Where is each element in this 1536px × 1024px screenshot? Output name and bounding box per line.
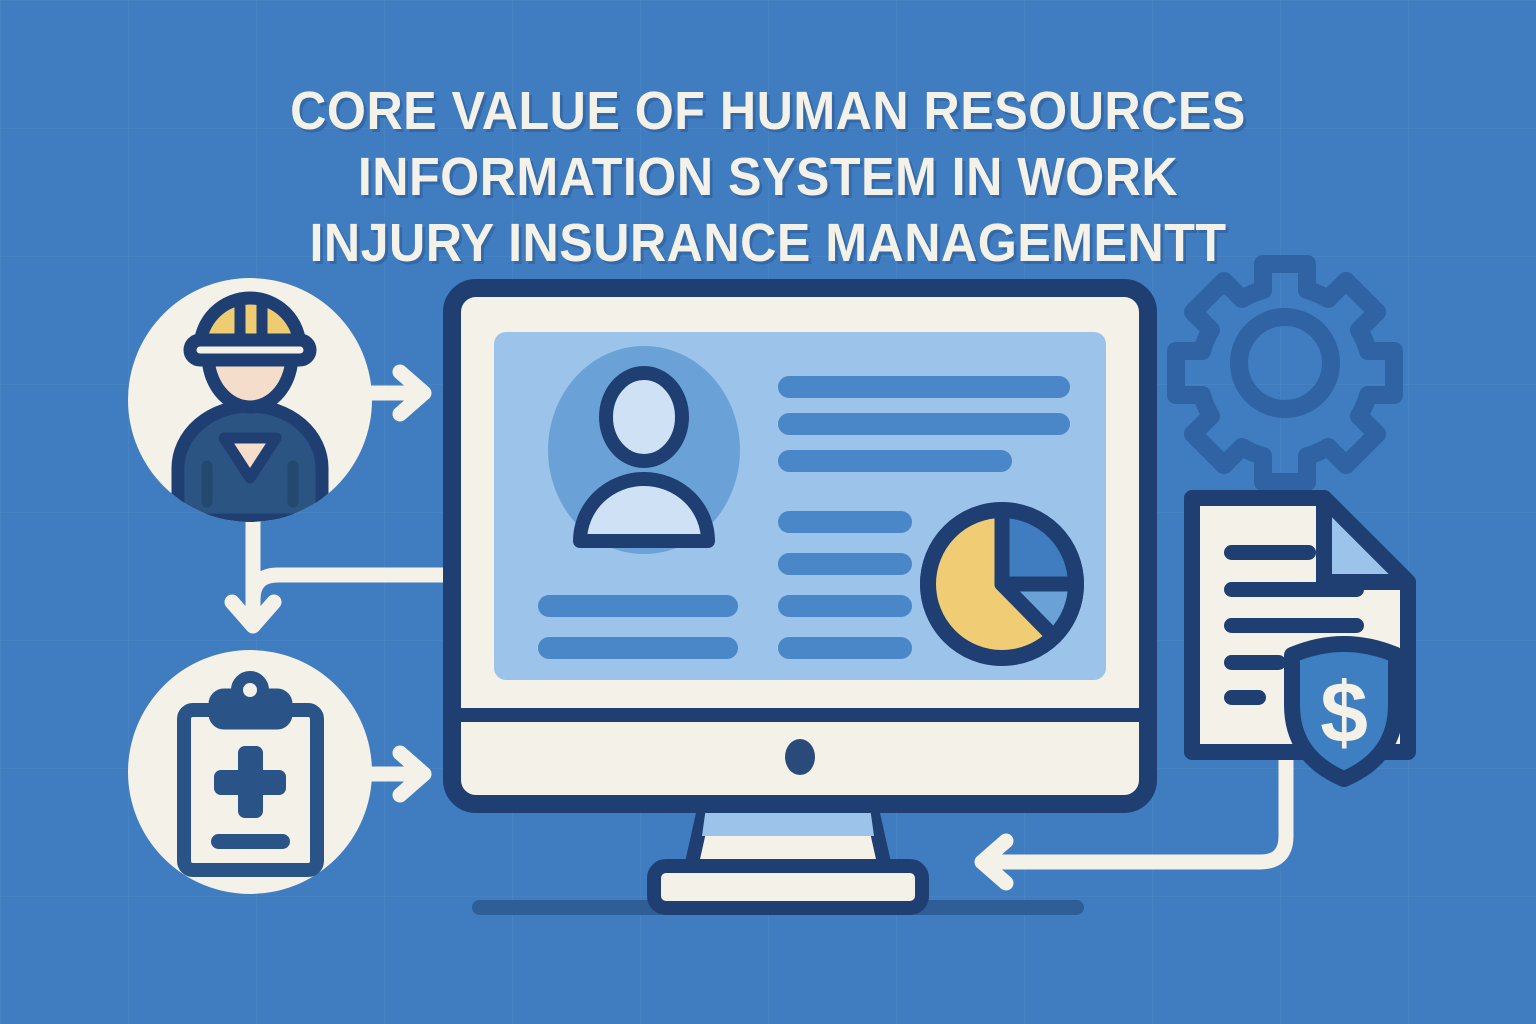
- document-folded-corner: [1324, 498, 1408, 582]
- monitor-stand: [654, 800, 922, 908]
- monitor-stand-base: [654, 866, 922, 908]
- desktop-monitor: [452, 288, 1148, 908]
- connector-arrow-worker-to-clipboard: [232, 512, 452, 626]
- monitor-chin-divider: [461, 708, 1139, 722]
- illustration: $: [0, 0, 1536, 1024]
- shield-dollar-sign: $: [1320, 665, 1368, 761]
- clipboard-clip-ring: [237, 677, 263, 703]
- construction-worker-icon: [128, 278, 372, 522]
- infographic-canvas: CORE VALUE OF HUMAN RESOURCES INFORMATIO…: [0, 0, 1536, 1024]
- screen-pie-chart: [928, 510, 1076, 658]
- gear-icon: [1176, 264, 1394, 482]
- worker-helmet-brim: [190, 340, 310, 360]
- monitor-power-dot: [785, 739, 815, 775]
- employee-avatar: [548, 346, 740, 554]
- document-shield: $: [1292, 644, 1396, 779]
- insurance-document-shield-icon: $: [1192, 498, 1408, 779]
- clipboard-text-line: [211, 834, 290, 849]
- medical-clipboard-icon: [128, 650, 372, 894]
